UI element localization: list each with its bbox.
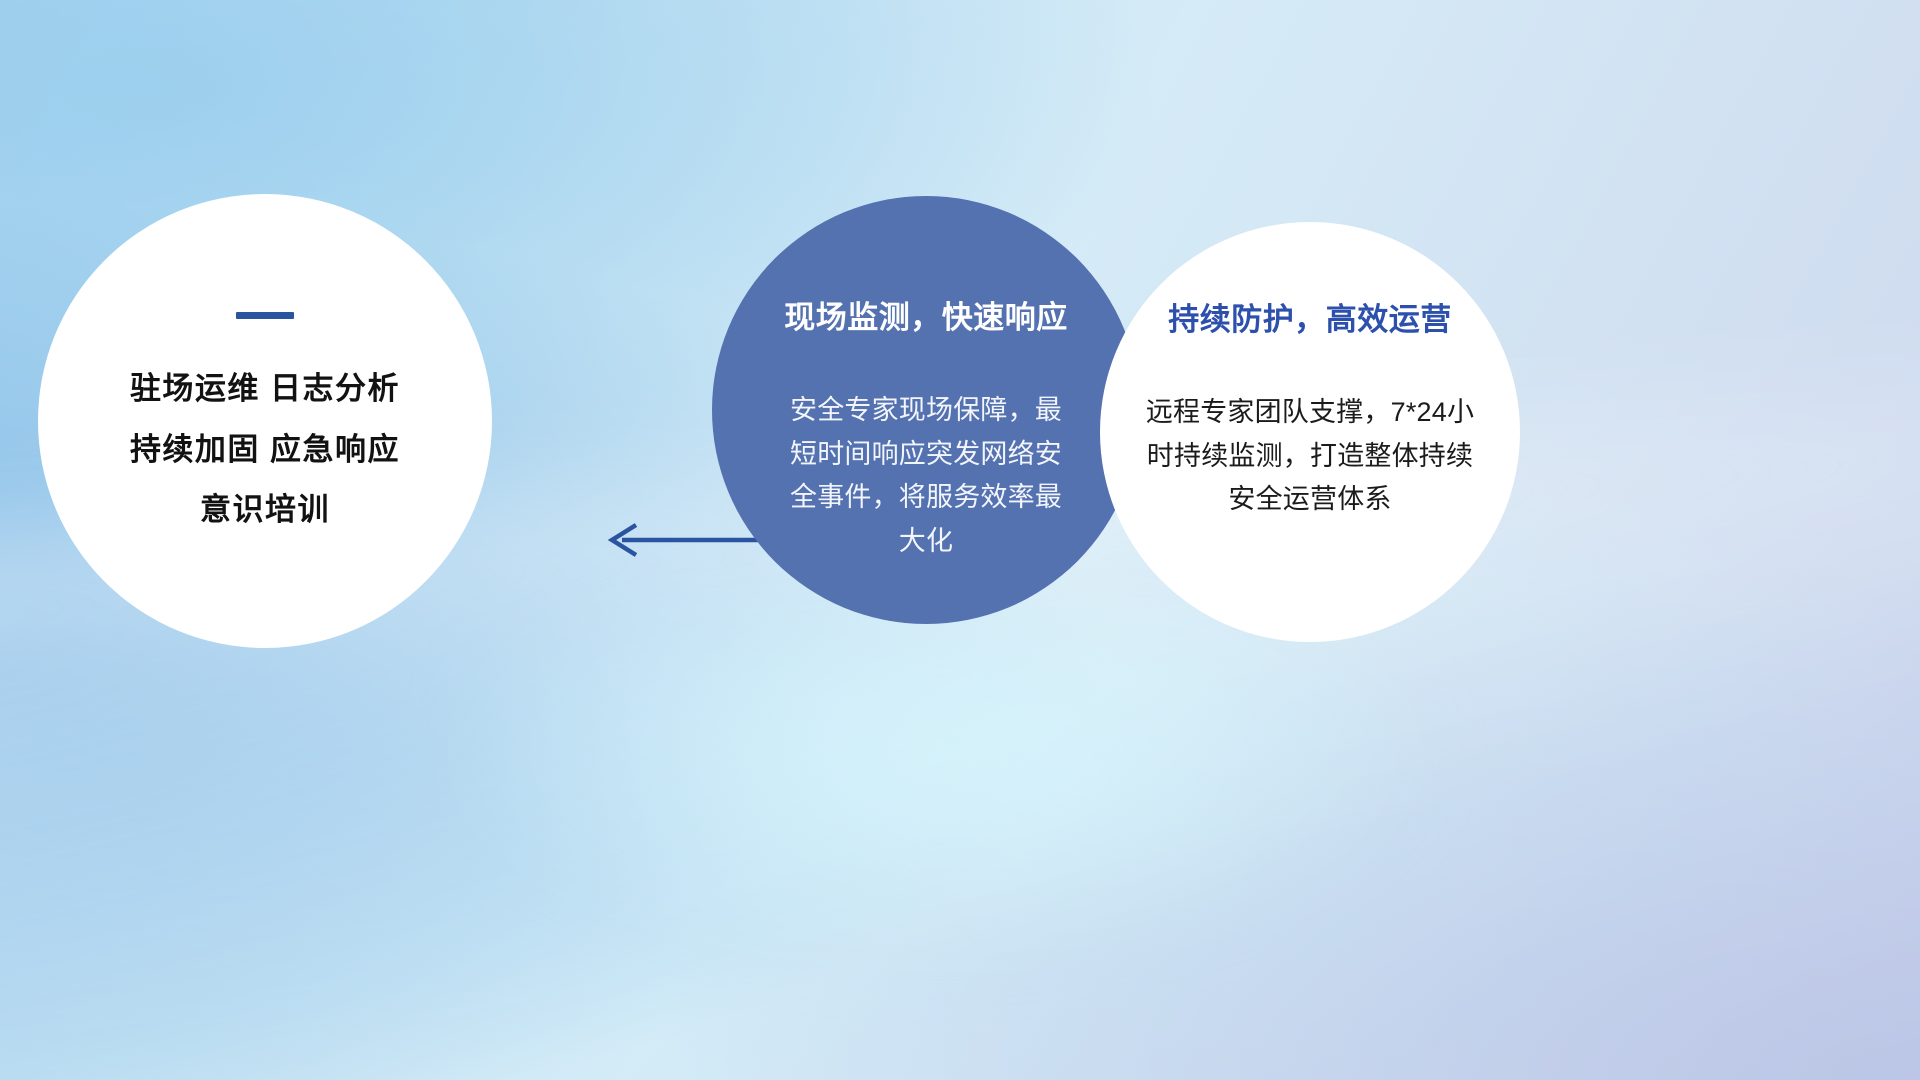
capability-line: 持续加固 应急响应	[130, 434, 400, 467]
continuous-protection-circle: 持续防护，高效运营 远程专家团队支撑，7*24小时持续监测，打造整体持续安全运营…	[1100, 222, 1520, 642]
continuous-protection-heading: 持续防护，高效运营	[1168, 294, 1452, 339]
capability-line: 驻场运维 日志分析	[130, 373, 400, 406]
left-capability-circle: 驻场运维 日志分析 持续加固 应急响应 意识培训	[38, 194, 492, 648]
divider-dash-icon	[236, 312, 294, 319]
continuous-protection-body: 远程专家团队支撑，7*24小时持续监测，打造整体持续安全运营体系	[1134, 391, 1486, 522]
onsite-monitoring-heading: 现场监测，快速响应	[784, 292, 1068, 337]
slide-canvas: 驻场运维 日志分析 持续加固 应急响应 意识培训 现场监测，快速响应 安全专家现…	[0, 0, 1920, 1080]
capability-line: 意识培训	[200, 494, 330, 527]
onsite-monitoring-circle: 现场监测，快速响应 安全专家现场保障，最短时间响应突发网络安全事件，将服务效率最…	[712, 196, 1140, 624]
onsite-monitoring-body: 安全专家现场保障，最短时间响应突发网络安全事件，将服务效率最大化	[782, 389, 1070, 564]
